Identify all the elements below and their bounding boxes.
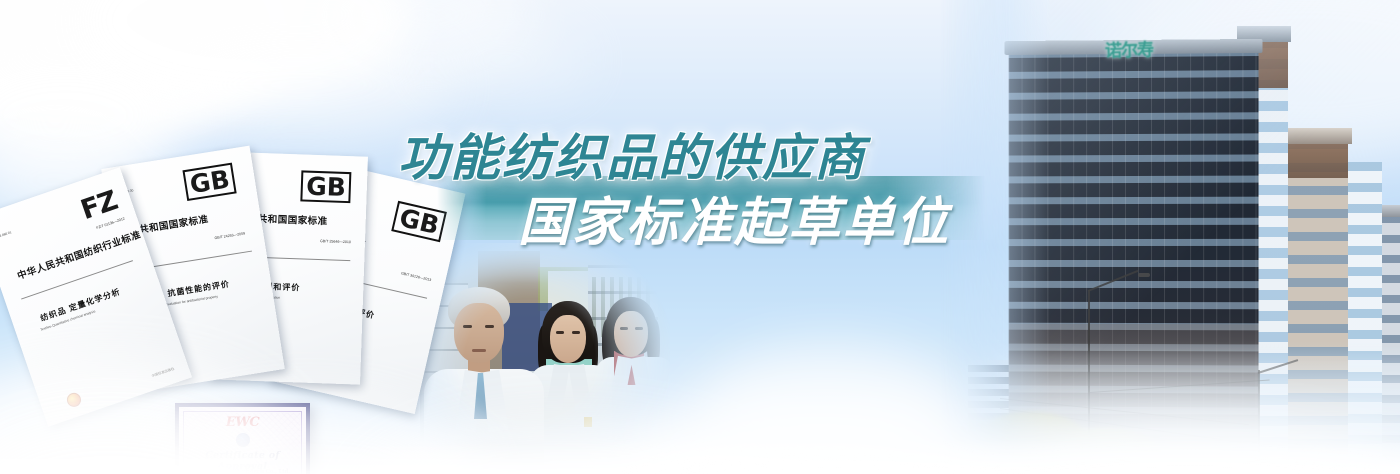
document-subtitle: 抗菌性能的评价 xyxy=(167,278,231,299)
document-side-code: ICS 59.080.01 xyxy=(0,230,12,240)
face xyxy=(550,315,586,363)
eye xyxy=(620,327,628,330)
eye xyxy=(572,331,580,334)
headline-band-sheen xyxy=(437,176,985,202)
document-code: GB/T 30126—2013 xyxy=(401,271,432,282)
standard-mark-gb: GB xyxy=(392,201,447,242)
document-title: 中华人民共和国纺织行业标准 xyxy=(15,227,142,283)
eye xyxy=(485,325,494,328)
hero-banner: 诺尔寿 xyxy=(0,0,1400,474)
mouth xyxy=(472,349,486,352)
street-lamp-head xyxy=(1138,273,1150,277)
document-code: GB/T 24253—2009 xyxy=(214,231,245,240)
standard-mark-gb: GB xyxy=(301,170,352,203)
eye xyxy=(556,331,564,334)
eye xyxy=(463,325,472,328)
city-skyline-photo: 诺尔寿 xyxy=(940,0,1400,474)
cloud-shape xyxy=(700,340,960,474)
document-subtitle: 纺织品 定量化学分析 xyxy=(39,286,122,324)
rooftop-sign: 诺尔寿 xyxy=(1092,35,1167,65)
headline-teal-band xyxy=(437,176,985,240)
rooftop-sign-label: 诺尔寿 xyxy=(1105,41,1153,59)
face xyxy=(454,303,504,363)
cloud-shape xyxy=(420,20,590,100)
standard-mark-fz: FZ xyxy=(78,187,121,224)
headline-line-1: 功能纺织品的供应商 xyxy=(398,118,866,190)
document-code: GB/T 25646—2010 xyxy=(320,239,351,244)
standard-mark-gb: GB xyxy=(183,163,237,201)
face xyxy=(614,311,648,357)
eye xyxy=(635,327,643,330)
